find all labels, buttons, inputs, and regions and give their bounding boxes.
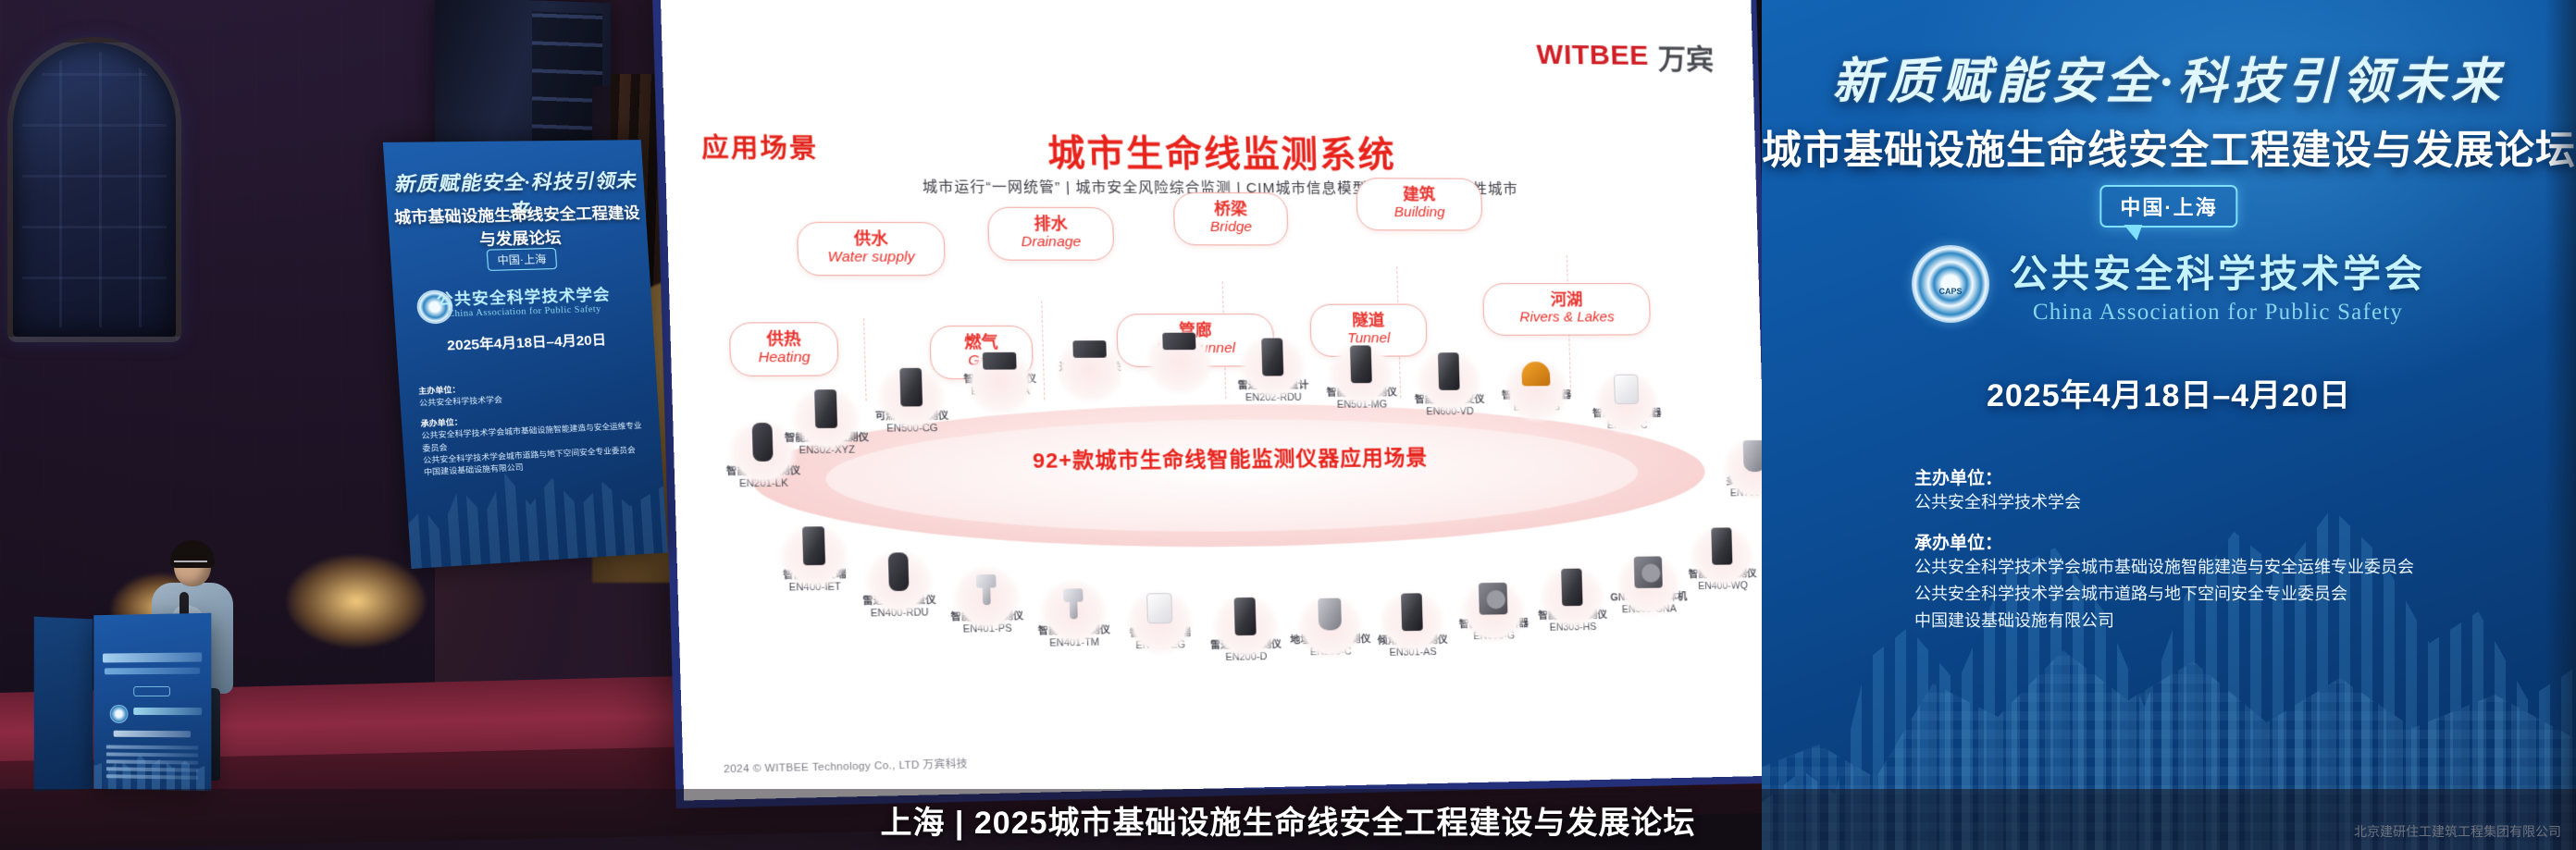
podium-subtitle-line (105, 668, 200, 675)
caption-bar: 上海 | 2025城市基础设施生命线安全工程建设与发展论坛 (0, 789, 2576, 850)
caps-seal-icon (1912, 245, 1989, 323)
banner-host-label: 主办单位： (1914, 464, 2539, 489)
category-bubble-water-supply[interactable]: 供水 Water supply (797, 222, 946, 276)
banner-host-item: 公共安全科学技术学会 (1914, 489, 2539, 516)
multi-gas-monitor-icon (983, 352, 1017, 370)
tilt-sensor-icon (1521, 362, 1550, 386)
pressure-monitor-icon (972, 569, 1000, 608)
category-cn: 河湖 (1497, 290, 1637, 309)
category-en: Rivers & Lakes (1497, 309, 1637, 326)
category-cn: 桥梁 (1188, 200, 1274, 219)
banner-coorganizer-item: 公共安全科学技术学会城市基础设施智能建造与安全运维专业委员会 (1914, 554, 2539, 581)
chandelier-right (287, 555, 426, 647)
presenter-glasses (174, 561, 207, 568)
combustible-gas-detector-icon (899, 368, 923, 407)
radar-water-level-icon (1234, 597, 1257, 635)
event-banner: 新质赋能安全·科技引领未来 城市基础设施生命线安全工程建设与发展论坛 中国·上海… (1762, 0, 2576, 850)
category-en: Bridge (1188, 219, 1273, 236)
banner-organization-text: 公共安全科学技术学会 China Association for Public … (2010, 242, 2426, 326)
mini-poster-date: 2025年4月18日–4月20日 (396, 328, 654, 357)
temperature-monitor-icon (1059, 583, 1088, 622)
structural-diagnostic-icon (1479, 583, 1508, 615)
category-bubble-rivers-lakes[interactable]: 河湖 Rivers & Lakes (1482, 283, 1651, 336)
banner-coorganizer-item: 公共安全科学技术学会城市道路与地下空间安全专业委员会 (1914, 581, 2539, 608)
category-cn: 隧道 (1324, 312, 1413, 331)
conference-stage-screenshot: 新质赋能安全·科技引领未来 城市基础设施生命线安全工程建设与发展论坛 中国·上海… (0, 0, 2576, 850)
banner-location-badge: 中国·上海 (2099, 185, 2237, 228)
presentation-slide: WITBEE 万宾 应用场景 城市生命线监测系统 城市运行“一网统管” | 城市… (660, 0, 1772, 801)
edge-gateway-icon (1072, 340, 1107, 358)
mini-poster-location-badge: 中国·上海 (487, 248, 557, 271)
structural-monitor-icon (1561, 569, 1582, 607)
banner-main-title: 城市基础设施生命线安全工程建设与发展论坛 (1762, 118, 2576, 176)
manhole-cover-sensor-icon (1614, 375, 1639, 404)
projection-screen: 新质赋能安全·科技引领未来 城市基础设施生命线安全工程建设与发展论坛 中国·上海… (652, 0, 1778, 808)
podium (93, 613, 211, 792)
banner-organizer-block: 主办单位： 公共安全科学技术学会 承办单位： 公共安全科学技术学会城市基础设施智… (1914, 451, 2539, 635)
category-en: Building (1370, 204, 1468, 221)
telemetry-terminal-smart-icon (1146, 593, 1172, 623)
water-quality-monitor-icon (1711, 527, 1732, 564)
buried-waterlogging-monitor-icon (1318, 598, 1342, 631)
banner-coorganizer-label: 承办单位： (1914, 529, 2539, 554)
mini-event-poster: 新质赋能安全·科技引领未来 城市基础设施生命线安全工程建设与发展论坛 中国·上海… (383, 140, 668, 569)
podium-association-seal (110, 705, 129, 723)
tilt-vibration-monitor-icon (1401, 593, 1423, 631)
banner-org-cn: 公共安全科学技术学会 (2010, 242, 2426, 298)
gas-monitor-icon (1350, 345, 1372, 383)
banner-org-en: China Association for Public Safety (2010, 300, 2426, 326)
podium-association-name (133, 708, 202, 715)
gnss-monitor-icon (1634, 556, 1663, 588)
category-bubble-drainage[interactable]: 排水 Drainage (987, 207, 1115, 261)
banner-organization-row: 公共安全科学技术学会 China Association for Public … (1762, 242, 2576, 326)
device-item[interactable]: 智能井盖传感器 EN100-C (1569, 374, 1683, 432)
category-bubble-bridge[interactable]: 桥梁 Bridge (1173, 192, 1289, 245)
caption-text: 上海 | 2025城市基础设施生命线安全工程建设与发展论坛 (880, 797, 1695, 843)
category-bubble-building[interactable]: 建筑 Building (1356, 178, 1482, 230)
banner-coorganizer-item: 中国建设基础设施有限公司 (1914, 608, 2539, 634)
category-cn: 建筑 (1370, 185, 1468, 204)
telemetry-terminal-icon (1162, 333, 1195, 351)
podium-location-badge (133, 686, 170, 696)
radar-ultrasonic-flowmeter-icon (1261, 339, 1283, 376)
category-cn: 供水 (811, 229, 930, 249)
banner-script-slogan: 新质赋能安全·科技引领未来 (1762, 43, 2576, 113)
podium-date-line (114, 731, 191, 738)
arched-window (7, 37, 181, 342)
category-en: Drainage (1003, 234, 1100, 251)
device-item[interactable]: 智能水质监测仪 EN400-WQ (1666, 527, 1773, 594)
visual-deformation-meter-icon (1438, 352, 1460, 390)
accelerometer-icon (814, 389, 837, 428)
category-en: Heating (745, 349, 824, 366)
category-cn: 供热 (744, 330, 823, 350)
category-bubble-heating[interactable]: 供热 Heating (729, 322, 839, 376)
category-en: Water supply (812, 249, 931, 265)
category-cn: 排水 (1002, 215, 1099, 234)
banner-event-date: 2025年4月18日–4月20日 (1762, 370, 2576, 415)
radar-flowmeter-icon (888, 552, 910, 591)
projection-screen-frame: 新质赋能安全·科技引领未来 城市基础设施生命线安全工程建设与发展论坛 中国·上海… (652, 0, 1778, 808)
podium-side-panel (34, 617, 93, 792)
mini-poster-organization: 公共安全科学技术学会 China Association for Public … (392, 280, 652, 321)
mini-poster-main-title: 城市基础设施生命线安全工程建设与发展论坛 (387, 200, 648, 252)
podium-title-line (103, 652, 202, 662)
banner-right-edge-shadow (2545, 0, 2576, 850)
edge-terminal-icon (802, 526, 825, 565)
mini-poster-units: 主办单位： 公共安全科学技术学会 承办单位： 公共安全科学技术学会城市基础设施智… (418, 376, 649, 479)
